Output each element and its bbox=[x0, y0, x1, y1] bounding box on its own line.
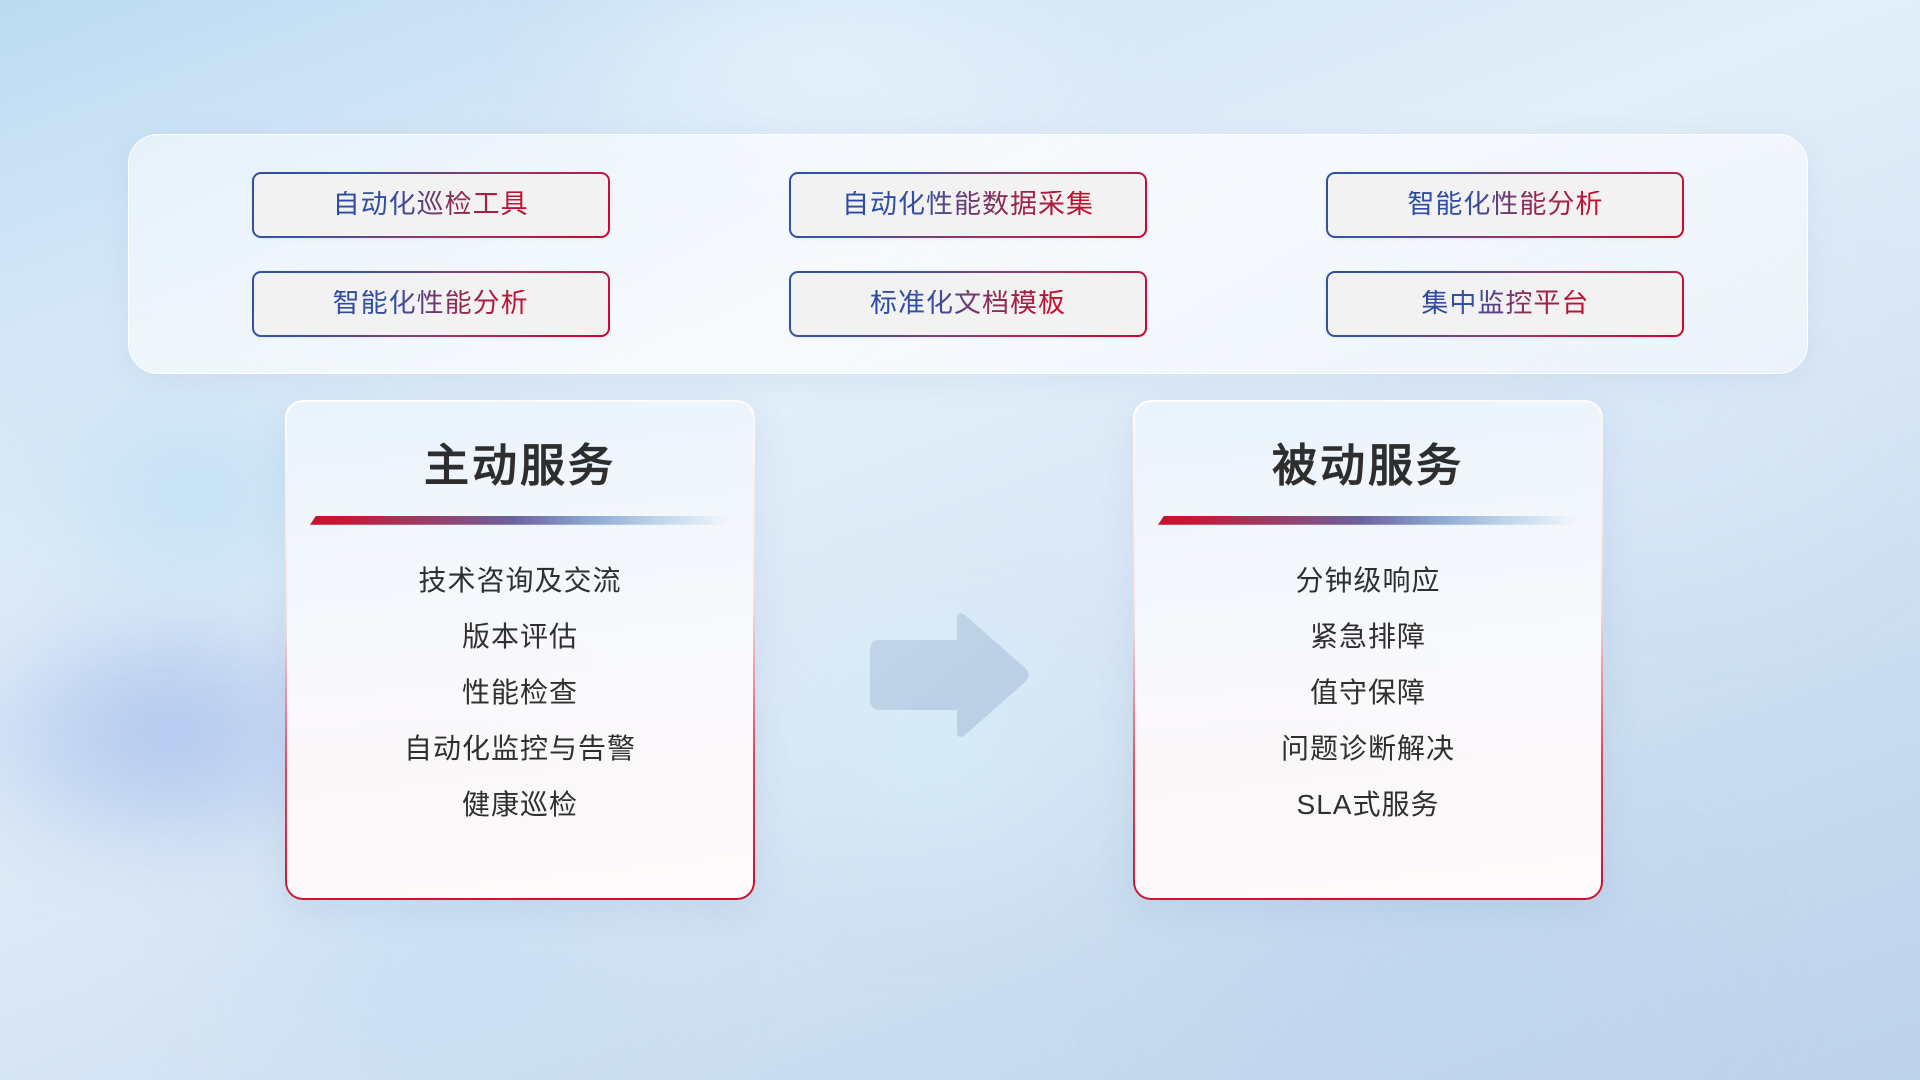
service-card-proactive: 主动服务 技术咨询及交流 版本评估 性能检查 自动化监控与告警 健康巡检 bbox=[285, 400, 755, 900]
capability-tag-label: 自动化性能数据采集 bbox=[842, 191, 1094, 218]
capability-panel: 自动化巡检工具 自动化性能数据采集 智能化性能分析 智能化性能分析 标准化文档模… bbox=[128, 134, 1808, 374]
card-title: 主动服务 bbox=[424, 440, 616, 492]
capability-tag-5[interactable]: 标准化文档模板 bbox=[789, 271, 1147, 337]
capability-tag-label: 智能化性能分析 bbox=[333, 290, 529, 317]
list-item: SLA式服务 bbox=[1297, 777, 1440, 833]
capability-tag-4[interactable]: 智能化性能分析 bbox=[252, 271, 610, 337]
capability-tag-label: 自动化巡检工具 bbox=[333, 191, 529, 218]
list-item: 健康巡检 bbox=[462, 777, 578, 833]
service-card-reactive: 被动服务 分钟级响应 紧急排障 值守保障 问题诊断解决 SLA式服务 bbox=[1133, 400, 1603, 900]
list-item: 分钟级响应 bbox=[1295, 553, 1440, 609]
list-item: 版本评估 bbox=[462, 609, 578, 665]
card-divider bbox=[310, 516, 730, 525]
arrow-right-icon bbox=[862, 610, 1032, 740]
list-item: 值守保障 bbox=[1310, 665, 1426, 721]
service-item-list: 分钟级响应 紧急排障 值守保障 问题诊断解决 SLA式服务 bbox=[1165, 553, 1571, 833]
list-item: 性能检查 bbox=[462, 665, 578, 721]
capability-tag-6[interactable]: 集中监控平台 bbox=[1326, 271, 1684, 337]
list-item: 问题诊断解决 bbox=[1281, 721, 1455, 777]
list-item: 紧急排障 bbox=[1310, 609, 1426, 665]
service-item-list: 技术咨询及交流 版本评估 性能检查 自动化监控与告警 健康巡检 bbox=[317, 553, 723, 833]
capability-tag-label: 集中监控平台 bbox=[1421, 290, 1589, 317]
card-divider bbox=[1158, 516, 1578, 525]
capability-tag-3[interactable]: 智能化性能分析 bbox=[1326, 172, 1684, 238]
list-item: 技术咨询及交流 bbox=[418, 553, 621, 609]
capability-tag-1[interactable]: 自动化巡检工具 bbox=[252, 172, 610, 238]
card-title: 被动服务 bbox=[1272, 440, 1464, 492]
capability-tag-label: 标准化文档模板 bbox=[870, 290, 1066, 317]
capability-tag-2[interactable]: 自动化性能数据采集 bbox=[789, 172, 1147, 238]
slide-canvas: 自动化巡检工具 自动化性能数据采集 智能化性能分析 智能化性能分析 标准化文档模… bbox=[0, 0, 1920, 1080]
capability-tag-label: 智能化性能分析 bbox=[1407, 191, 1603, 218]
list-item: 自动化监控与告警 bbox=[404, 721, 636, 777]
